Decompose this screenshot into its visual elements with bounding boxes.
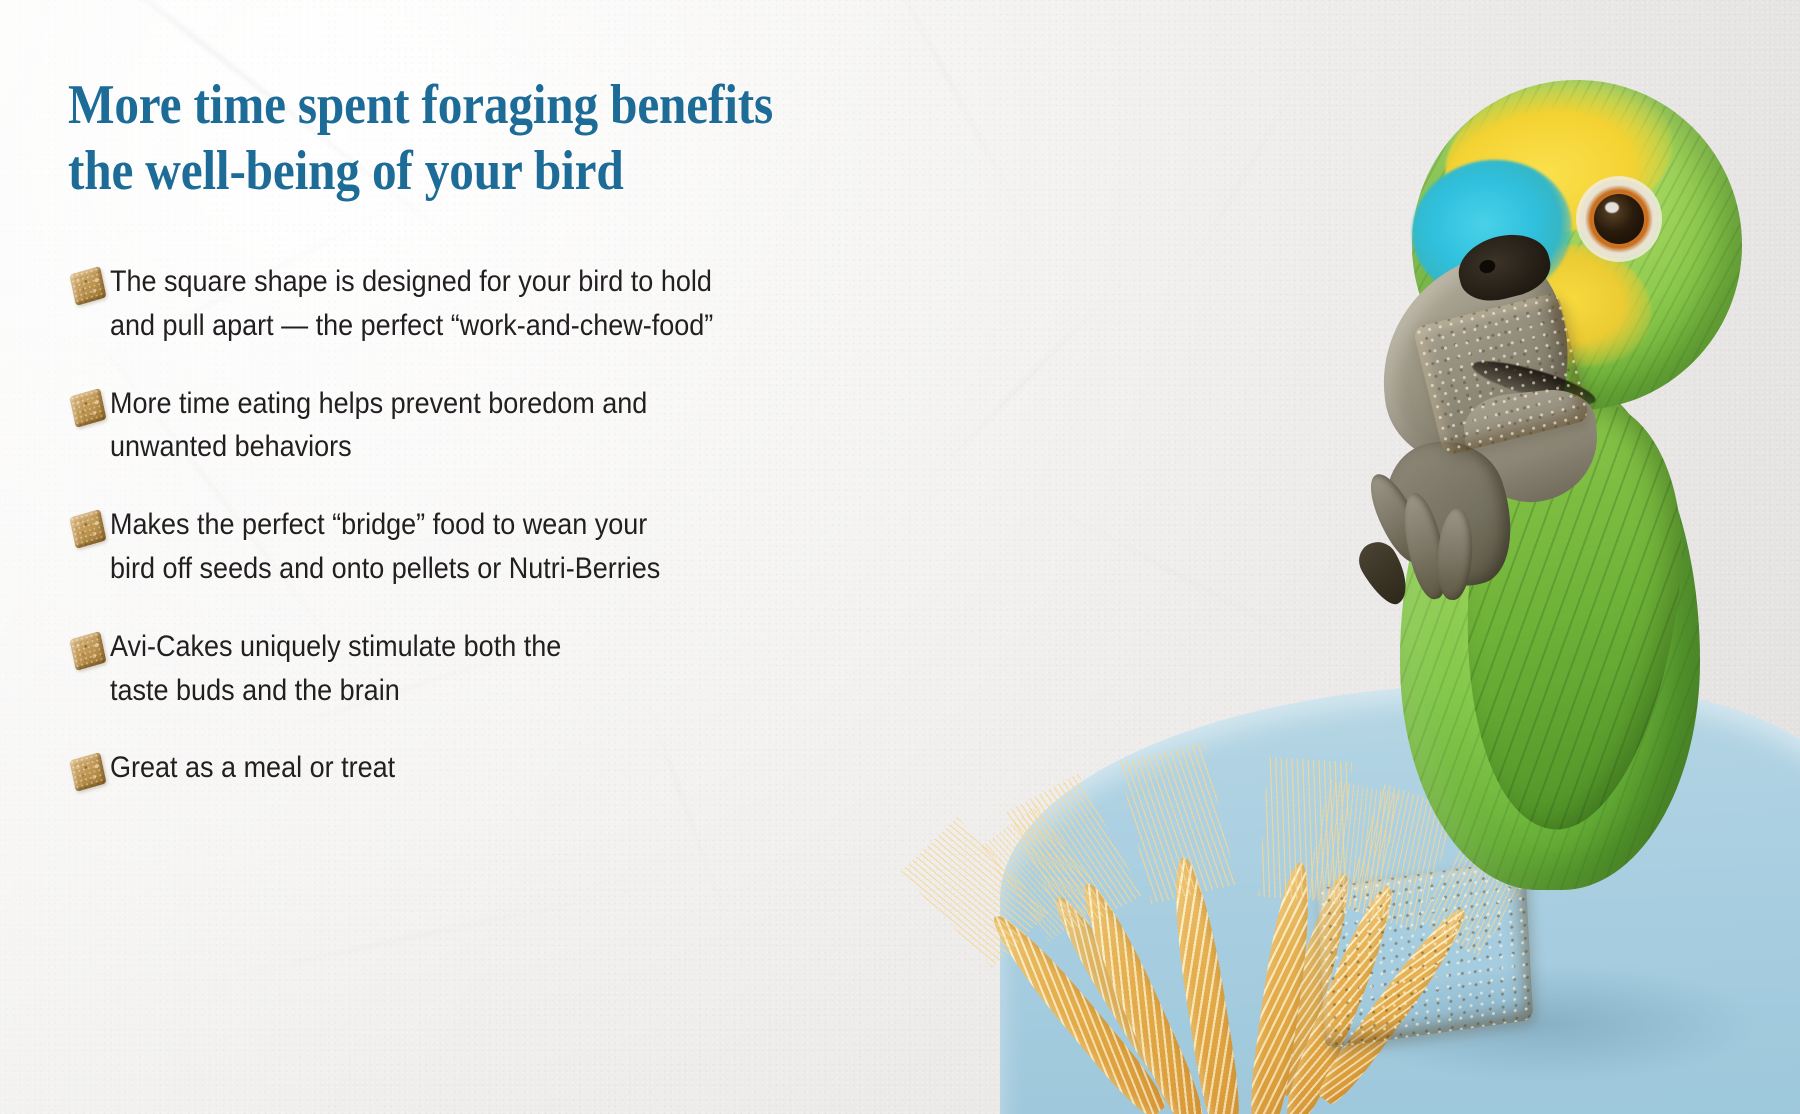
list-item-text: More time eating helps prevent boredom a… [110,380,934,470]
list-item: More time eating helps prevent boredom a… [66,380,1026,470]
list-item-text: Makes the perfect “bridge” food to wean … [110,501,934,591]
list-item: Great as a meal or treat [66,744,1026,794]
benefits-list: The square shape is designed for your bi… [66,258,1026,794]
seed-cake-cube-icon [66,386,110,430]
seed-cake-cube-icon [66,507,110,551]
seed-cake-cube-icon [66,264,110,308]
page-title: More time spent foraging benefits the we… [68,72,895,204]
seed-cake-cube-icon [66,629,110,673]
parrot-illustration [1230,40,1790,900]
seed-cake-cube-icon [66,750,110,794]
list-item-text: The square shape is designed for your bi… [110,258,934,348]
list-item: The square shape is designed for your bi… [66,258,1026,348]
infographic-canvas: More time spent foraging benefits the we… [0,0,1800,1114]
list-item: Avi-Cakes uniquely stimulate both the ta… [66,623,1026,713]
list-item-text: Great as a meal or treat [110,744,934,790]
parrot-eye [1580,180,1658,258]
product-photo-scene [1040,0,1800,1114]
text-content-column: More time spent foraging benefits the we… [0,0,1060,1114]
list-item-text: Avi-Cakes uniquely stimulate both the ta… [110,623,934,713]
list-item: Makes the perfect “bridge” food to wean … [66,501,1026,591]
